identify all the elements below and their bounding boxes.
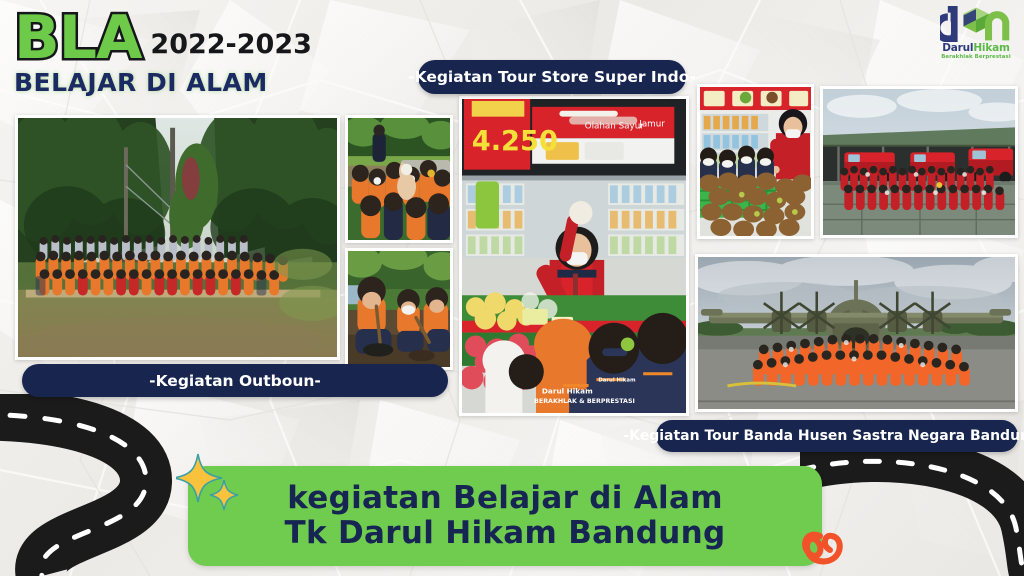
svg-text:Jamur: Jamur	[638, 119, 665, 129]
school-year-label: 2022-2023	[150, 29, 312, 60]
main-title-banner: kegiatan Belajar di Alam Tk Darul Hikam …	[188, 466, 822, 566]
label-outboun[interactable]: -Kegiatan Outboun-	[22, 364, 448, 397]
banner-line-2: Tk Darul Hikam Bandung	[285, 516, 726, 551]
poster-header: BLA 2022-2023 BELAJAR DI ALAM	[14, 4, 312, 97]
logo-name-first: Darul	[942, 42, 973, 54]
label-super-indo[interactable]: -Kegiatan Tour Store Super Indo-	[418, 60, 686, 94]
page-title: BLA	[14, 10, 141, 66]
banner-line-1: kegiatan Belajar di Alam	[287, 481, 723, 516]
poster-canvas: BLA 2022-2023 BELAJAR DI ALAM DarulHikam…	[0, 0, 1024, 576]
logo-name-second: Hikam	[973, 42, 1009, 54]
airplane-group-photo[interactable]	[695, 254, 1018, 412]
svg-text:Darul Hikam: Darul Hikam	[542, 386, 593, 395]
logo-tagline: Berakhlak Berprestasi	[938, 54, 1014, 61]
svg-text:BERAKHLAK & BERPRESTASI: BERAKHLAK & BERPRESTASI	[534, 398, 635, 405]
outbound-mud-photo[interactable]	[345, 248, 453, 370]
page-subtitle: BELAJAR DI ALAM	[14, 68, 312, 97]
svg-text:Darul Hikam: Darul Hikam	[598, 378, 636, 384]
firetruck-group-photo[interactable]	[820, 86, 1018, 238]
label-banda-husen[interactable]: -Kegiatan Tour Banda Husen Sastra Negara…	[656, 420, 1018, 452]
superindo-staff-photo[interactable]: Olahan Sayur Jamur 4.250	[459, 96, 689, 416]
outbound-group-photo[interactable]	[15, 115, 340, 360]
logo-name: DarulHikam	[938, 43, 1014, 54]
superindo-kiwi-photo[interactable]	[697, 84, 814, 239]
dh-monogram-icon	[940, 6, 1012, 42]
svg-text:4.250: 4.250	[472, 126, 558, 157]
outbound-handwash-photo[interactable]	[345, 115, 453, 243]
school-logo: DarulHikam Berakhlak Berprestasi	[938, 6, 1014, 61]
